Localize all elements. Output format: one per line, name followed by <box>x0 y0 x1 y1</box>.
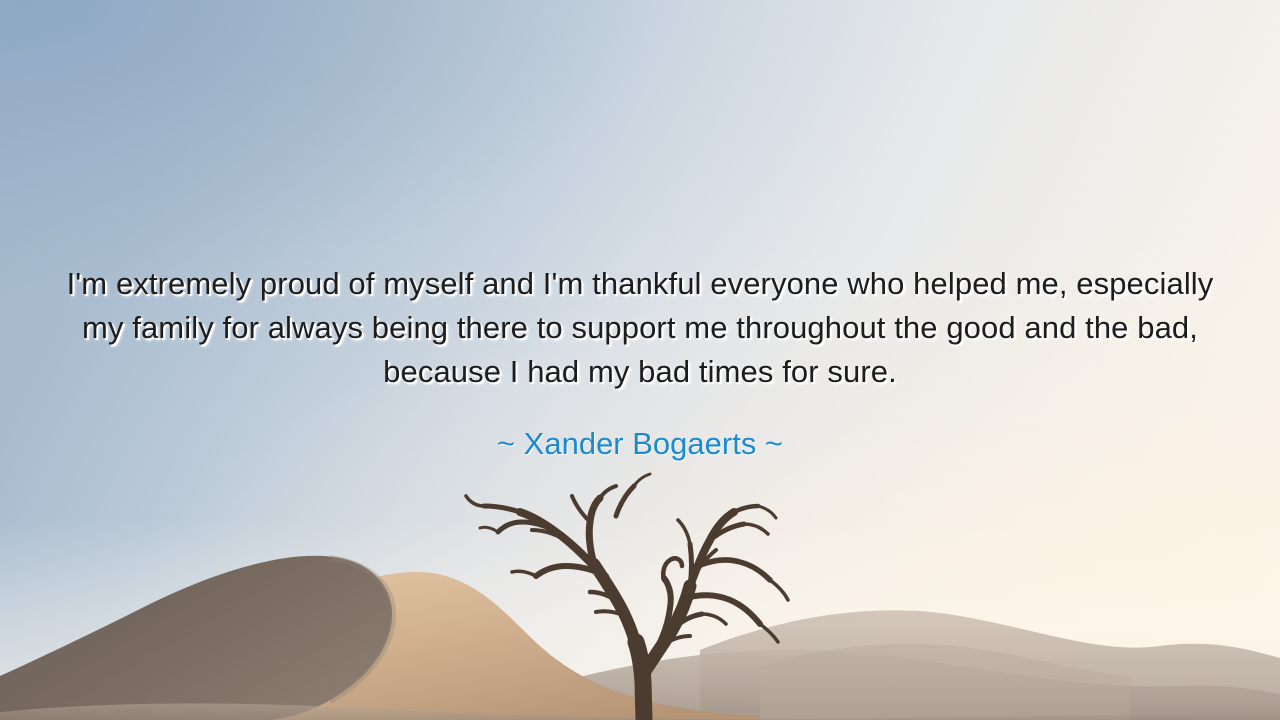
quote-author: ~ Xander Bogaerts ~ <box>48 424 1232 464</box>
sand-dunes <box>0 530 1280 720</box>
quote-container: I'm extremely proud of myself and I'm th… <box>0 262 1280 464</box>
quote-image-canvas: I'm extremely proud of myself and I'm th… <box>0 0 1280 720</box>
quote-text: I'm extremely proud of myself and I'm th… <box>60 262 1220 394</box>
